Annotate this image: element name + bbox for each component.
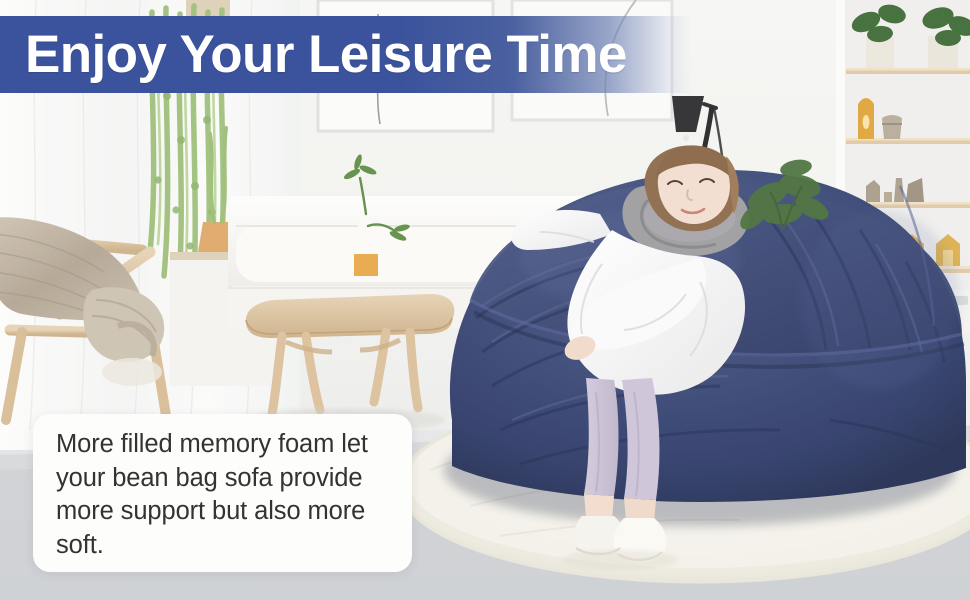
feature-caption-card: More filled memory foam let your bean ba… — [33, 414, 412, 572]
caption-text: More filled memory foam let your bean ba… — [56, 428, 392, 562]
product-marketing-image: Enjoy Your Leisure Time More filled memo… — [0, 0, 970, 600]
header-banner: Enjoy Your Leisure Time — [0, 16, 692, 93]
banner-title: Enjoy Your Leisure Time — [25, 28, 627, 81]
